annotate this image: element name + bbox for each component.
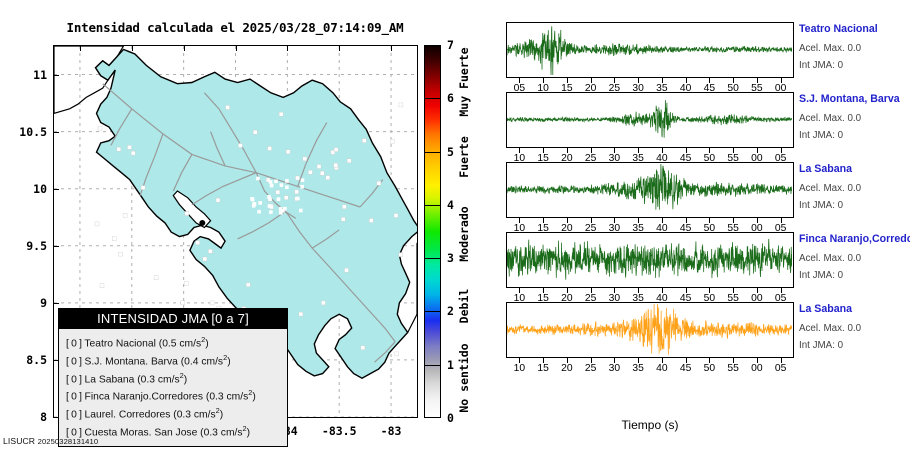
- seismogram-tick-label: 30: [609, 363, 620, 374]
- colorbar-tick-mark: [424, 365, 441, 366]
- colorbar-tick-label: 4: [447, 198, 454, 212]
- seismogram-station-name[interactable]: Teatro Nacional: [799, 23, 878, 35]
- colorbar-tick-label: 3: [447, 251, 454, 265]
- city-marker: [286, 150, 290, 154]
- city-marker: [184, 282, 188, 286]
- city-marker: [98, 126, 102, 130]
- colorbar-tick-mark: [424, 258, 441, 259]
- seismogram-jma-intensity: Int JMA: 0: [799, 60, 843, 71]
- legend-station-name: Finca Naranjo.Corredores: [85, 392, 203, 403]
- city-marker: [269, 210, 273, 214]
- legend-accel-value: 0.3: [209, 392, 223, 403]
- map-ytick-label: 11: [33, 68, 47, 82]
- legend-accel-unit-exponent: 2: [201, 335, 205, 344]
- colorbar-category-label: Fuerte: [457, 136, 471, 178]
- colorbar-category-label: Debil: [457, 289, 471, 324]
- seismogram-tick-label: 35: [632, 363, 643, 374]
- legend-station-row: [ 0 ] Laurel. Corredores (0.3 cm/s2): [66, 404, 280, 422]
- city-marker: [274, 180, 278, 184]
- legend-jma-level: [ 0 ]: [66, 410, 82, 421]
- legend-accel-value: 0.4: [184, 356, 198, 367]
- colorbar-tick-label: 1: [447, 358, 454, 372]
- city-marker: [300, 185, 304, 189]
- city-marker: [253, 130, 257, 134]
- legend-accel-value: 0.3: [204, 428, 218, 439]
- colorbar-category-label: No sentido: [457, 343, 471, 412]
- city-marker: [341, 217, 345, 221]
- legend-accel-unit: cm/s: [201, 356, 223, 367]
- map-xtick-label: -83.5: [322, 424, 357, 438]
- seismogram-tick-label: 45: [680, 363, 691, 374]
- map-ytick-label: 9.5: [26, 239, 47, 253]
- city-marker: [196, 241, 200, 245]
- city-marker: [285, 186, 289, 190]
- legend-accel-value: 0.3: [177, 410, 191, 421]
- city-marker: [246, 283, 250, 287]
- seismogram-peak-accel: Acel. Max. 0.0: [799, 323, 861, 334]
- seismogram-jma-intensity: Int JMA: 0: [799, 340, 843, 351]
- city-marker: [280, 183, 284, 187]
- seismogram-trace: [507, 93, 792, 146]
- legend-station-row: [ 0 ] Teatro Nacional (0.5 cm/s2): [66, 333, 280, 351]
- city-marker: [257, 210, 261, 214]
- city-marker: [369, 219, 373, 223]
- city-marker: [100, 284, 104, 288]
- seismogram-station-name[interactable]: S.J. Montana, Barva: [799, 93, 900, 105]
- map-ytick-label: 8: [40, 410, 47, 424]
- city-marker: [299, 312, 303, 316]
- legend-jma-level: [ 0 ]: [66, 374, 82, 385]
- city-marker: [299, 209, 303, 213]
- colorbar-tick-label: 0: [447, 411, 454, 425]
- legend-jma-level: [ 0 ]: [66, 356, 82, 367]
- seismogram-peak-accel: Acel. Max. 0.0: [799, 113, 861, 124]
- city-marker: [154, 276, 158, 280]
- seismogram-tick-label: 20: [561, 363, 572, 374]
- city-marker: [334, 148, 338, 152]
- seismogram-tick-label: 10: [514, 363, 525, 374]
- city-marker: [296, 197, 300, 201]
- city-marker: [284, 196, 288, 200]
- seismogram-trace: [507, 163, 792, 216]
- legend-accel-unit: cm/s: [221, 428, 243, 439]
- seismogram-tick-label: 05: [775, 363, 786, 374]
- colorbar-category-label: Muy Fuerte: [457, 48, 471, 117]
- seismogram-tick-label: 50: [704, 363, 715, 374]
- map-ytick-label: 10.5: [19, 125, 47, 139]
- legend-box: INTENSIDAD JMA [0 a 7] [ 0 ] Teatro Naci…: [58, 308, 288, 447]
- legend-accel-value: 0.3: [141, 374, 155, 385]
- seismogram-jma-intensity: Int JMA: 0: [799, 130, 843, 141]
- city-marker: [283, 207, 287, 211]
- seismogram-station-name[interactable]: La Sabana: [799, 163, 852, 175]
- city-marker: [342, 205, 346, 209]
- city-marker: [279, 112, 283, 116]
- city-marker: [267, 195, 271, 199]
- legend-accel-value: 0.5: [162, 338, 176, 349]
- map-ytick-label: 9: [40, 296, 47, 310]
- footer-credit: LISUCR 20250328131410: [3, 436, 98, 446]
- seismogram-tick-label: 15: [537, 363, 548, 374]
- seismogram-tick-label: 40: [656, 363, 667, 374]
- legend-accel-unit-exponent: 2: [216, 406, 220, 415]
- city-marker: [399, 253, 403, 257]
- city-marker: [216, 198, 220, 202]
- seismogram-panel[interactable]: [506, 92, 794, 148]
- legend-station-name: Teatro Nacional: [84, 338, 156, 349]
- footer-agency: LISUCR: [3, 436, 35, 446]
- page-title: Intensidad calculada el 2025/03/28_07:14…: [0, 20, 470, 35]
- city-marker: [276, 190, 280, 194]
- city-marker: [279, 207, 283, 211]
- city-marker: [226, 106, 230, 110]
- city-marker: [321, 301, 325, 305]
- city-marker: [334, 163, 338, 167]
- city-marker: [203, 257, 207, 261]
- colorbar-labels: 01234567No sentidoDebilModeradoFuerteMuy…: [424, 45, 514, 418]
- city-marker: [361, 346, 365, 350]
- city-marker: [326, 176, 330, 180]
- city-marker: [390, 139, 394, 143]
- seismogram-tick-label: 00: [751, 363, 762, 374]
- map-ytick-label: 8.5: [26, 353, 47, 367]
- city-marker: [252, 202, 256, 206]
- legend-station-name: La Sabana: [85, 374, 135, 385]
- colorbar-tick-mark: [424, 311, 441, 312]
- city-marker: [295, 190, 299, 194]
- legend-station-row: [ 0 ] Finca Naranjo.Corredores (0.3 cm/s…: [66, 386, 280, 404]
- city-marker: [269, 180, 273, 184]
- seismogram-panel[interactable]: [506, 162, 794, 218]
- legend-accel-unit-exponent: 2: [248, 388, 252, 397]
- footer-id: 20250328131410: [38, 437, 99, 446]
- seismogram-trace: [507, 23, 792, 76]
- seismogram-panel[interactable]: [506, 302, 794, 358]
- city-marker: [277, 197, 281, 201]
- seismogram-jma-intensity: Int JMA: 0: [799, 200, 843, 211]
- city-marker: [131, 151, 135, 155]
- city-marker: [112, 237, 116, 241]
- legend-accel-unit-exponent: 2: [243, 424, 247, 433]
- legend-jma-level: [ 0 ]: [66, 338, 82, 349]
- legend-jma-level: [ 0 ]: [66, 392, 82, 403]
- seismogram-peak-accel: Acel. Max. 0.0: [799, 43, 861, 54]
- seismogram-jma-intensity: Int JMA: 0: [799, 270, 843, 281]
- seismogram-xaxis-label: Tiempo (s): [506, 418, 794, 432]
- city-marker: [317, 165, 321, 169]
- seismogram-peak-accel: Acel. Max. 0.0: [799, 183, 861, 194]
- city-marker: [399, 103, 403, 107]
- seismogram-peak-accel: Acel. Max. 0.0: [799, 253, 861, 264]
- city-marker: [117, 147, 121, 151]
- seismogram-panel[interactable]: [506, 232, 794, 288]
- city-marker: [128, 145, 132, 149]
- city-marker: [238, 144, 242, 148]
- city-marker: [258, 201, 262, 205]
- seismogram-trace: [507, 233, 792, 286]
- city-marker: [362, 139, 366, 143]
- seismogram-station-name[interactable]: La Sabana: [799, 303, 852, 315]
- city-marker: [268, 147, 272, 151]
- city-marker: [285, 179, 289, 183]
- colorbar-tick-label: 7: [447, 38, 454, 52]
- city-marker: [296, 176, 300, 180]
- city-marker: [208, 249, 212, 253]
- colorbar-tick-label: 2: [447, 304, 454, 318]
- legend-station-list: [ 0 ] Teatro Nacional (0.5 cm/s2)[ 0 ] S…: [59, 329, 287, 446]
- seismogram-panel[interactable]: [506, 22, 794, 78]
- legend-station-name: Laurel. Corredores: [85, 410, 171, 421]
- seismogram-station-name[interactable]: Finca Naranjo,Corredor: [799, 233, 910, 245]
- city-marker: [377, 181, 381, 185]
- city-marker: [141, 186, 145, 190]
- city-marker: [347, 159, 351, 163]
- legend-station-row: [ 0 ] S.J. Montana. Barva (0.4 cm/s2): [66, 351, 280, 369]
- legend-accel-unit-exponent: 2: [180, 371, 184, 380]
- city-marker: [395, 352, 399, 356]
- legend-accel-unit: cm/s: [227, 392, 249, 403]
- colorbar-tick-mark: [424, 152, 441, 153]
- city-marker: [270, 184, 274, 188]
- city-marker: [185, 212, 189, 216]
- colorbar-tick-mark: [424, 98, 441, 99]
- legend-accel-unit-exponent: 2: [223, 353, 227, 362]
- city-marker: [394, 214, 398, 218]
- seismogram-tick-label: 25: [585, 363, 596, 374]
- colorbar-category-label: Moderado: [457, 206, 471, 261]
- seismogram-tick-label: 55: [727, 363, 738, 374]
- colorbar-tick-mark: [424, 205, 441, 206]
- legend-accel-unit: cm/s: [158, 374, 180, 385]
- city-marker: [301, 178, 305, 182]
- city-marker: [123, 213, 127, 217]
- city-marker: [95, 222, 99, 226]
- city-marker: [118, 252, 122, 256]
- epicenter-marker: [199, 220, 205, 226]
- legend-accel-unit: cm/s: [179, 338, 201, 349]
- map-xtick-label: -83: [381, 424, 402, 438]
- colorbar-tick-label: 5: [447, 145, 454, 159]
- legend-station-row: [ 0 ] La Sabana (0.3 cm/s2): [66, 369, 280, 387]
- legend-station-name: S.J. Montana. Barva: [85, 356, 178, 367]
- city-marker: [303, 157, 307, 161]
- legend-title: INTENSIDAD JMA [0 a 7]: [59, 309, 287, 329]
- city-marker: [308, 170, 312, 174]
- city-marker: [345, 268, 349, 272]
- city-marker: [210, 301, 214, 305]
- seismogram-xaxis: 101520253035404550550005: [506, 358, 794, 374]
- city-marker: [256, 177, 260, 181]
- city-marker: [320, 171, 324, 175]
- seismogram-trace: [507, 303, 792, 356]
- city-marker: [251, 198, 255, 202]
- legend-station-name: Cuesta Moras. San Jose: [85, 428, 198, 439]
- legend-accel-unit: cm/s: [194, 410, 216, 421]
- map-ytick-label: 10: [33, 182, 47, 196]
- colorbar-tick-label: 6: [447, 91, 454, 105]
- city-marker: [181, 301, 185, 305]
- city-marker: [268, 204, 272, 208]
